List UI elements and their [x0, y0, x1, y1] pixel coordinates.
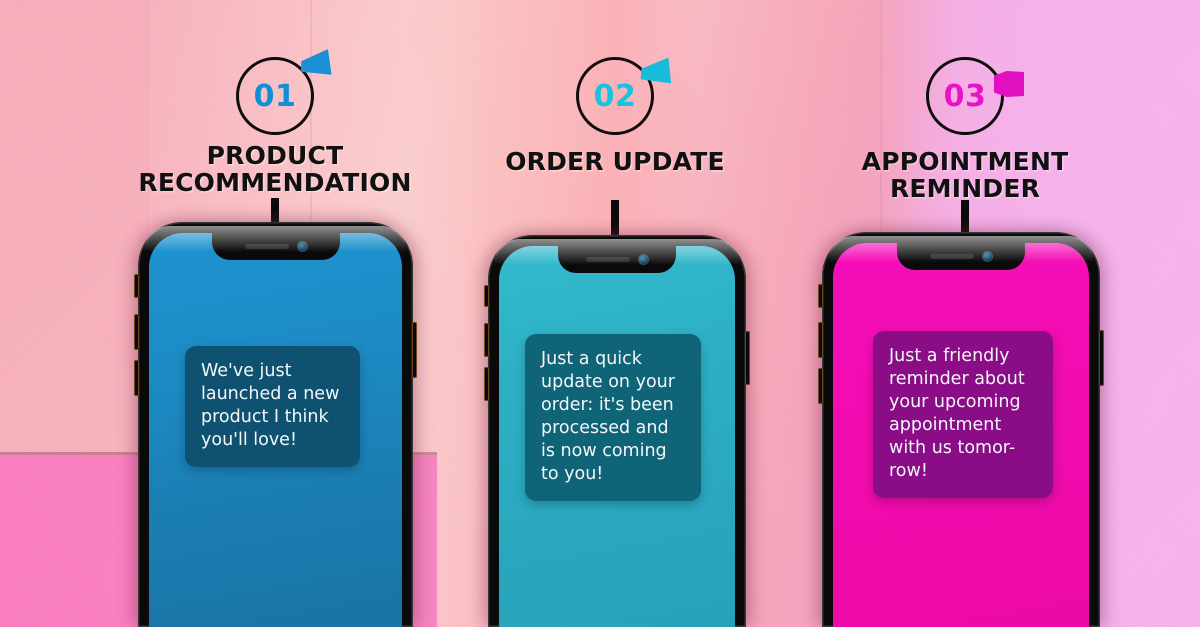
phone-mute-switch[interactable] [818, 284, 823, 308]
column-order-update: 02 ORDER UPDATE Just a quick update on y… [455, 0, 775, 627]
phone-volume-down-button[interactable] [134, 360, 139, 396]
phone-power-button[interactable] [1099, 330, 1104, 386]
phone-mute-switch[interactable] [134, 274, 139, 298]
step-title: PRODUCT RECOMMENDATION [110, 142, 440, 196]
phone-volume-down-button[interactable] [818, 368, 823, 404]
badge-wrap-03: 03 [800, 57, 1130, 135]
step-badge-01: 01 [236, 57, 314, 135]
step-title: APPOINTMENT REMINDER [800, 148, 1130, 202]
front-camera-lens-icon [639, 255, 648, 264]
badge-number: 03 [926, 57, 1004, 135]
phone-mockup: We've just launched a new product I thin… [138, 222, 413, 627]
phone-notch [897, 243, 1025, 270]
phone-screen: Just a quick update on your order: it's … [499, 246, 735, 627]
badge-number: 02 [576, 57, 654, 135]
message-bubble: Just a friendly reminder about your upco… [873, 331, 1053, 498]
phone-mockup: Just a friendly reminder about your upco… [822, 232, 1100, 627]
message-bubble: We've just launched a new product I thin… [185, 346, 360, 467]
phone-volume-down-button[interactable] [484, 367, 489, 401]
phone-notch [558, 246, 676, 273]
badge-wrap-02: 02 [455, 57, 775, 135]
phone-speaker-grille-icon [930, 254, 974, 259]
phone-volume-up-button[interactable] [818, 322, 823, 358]
infographic-canvas: 01 PRODUCT RECOMMENDATION We've just lau… [0, 0, 1200, 627]
badge-number: 01 [236, 57, 314, 135]
column-appointment-reminder: 03 APPOINTMENT REMINDER Just a friendly … [800, 0, 1130, 627]
phone-notch [212, 233, 340, 260]
phone-screen: Just a friendly reminder about your upco… [833, 243, 1089, 627]
phone-speaker-grille-icon [586, 257, 630, 262]
step-title: ORDER UPDATE [455, 148, 775, 175]
phone-speaker-grille-icon [245, 244, 289, 249]
step-badge-03: 03 [926, 57, 1004, 135]
front-camera-lens-icon [983, 252, 992, 261]
phone-power-button[interactable] [412, 322, 417, 378]
front-camera-lens-icon [298, 242, 307, 251]
step-badge-02: 02 [576, 57, 654, 135]
phone-volume-up-button[interactable] [134, 314, 139, 350]
phone-screen: We've just launched a new product I thin… [149, 233, 402, 627]
phone-power-button[interactable] [745, 331, 750, 385]
phone-volume-up-button[interactable] [484, 323, 489, 357]
phone-mute-switch[interactable] [484, 285, 489, 307]
phone-mockup: Just a quick update on your order: it's … [488, 235, 746, 627]
badge-wrap-01: 01 [110, 57, 440, 135]
message-bubble: Just a quick update on your order: it's … [525, 334, 701, 501]
column-product-recommendation: 01 PRODUCT RECOMMENDATION We've just lau… [110, 0, 440, 627]
